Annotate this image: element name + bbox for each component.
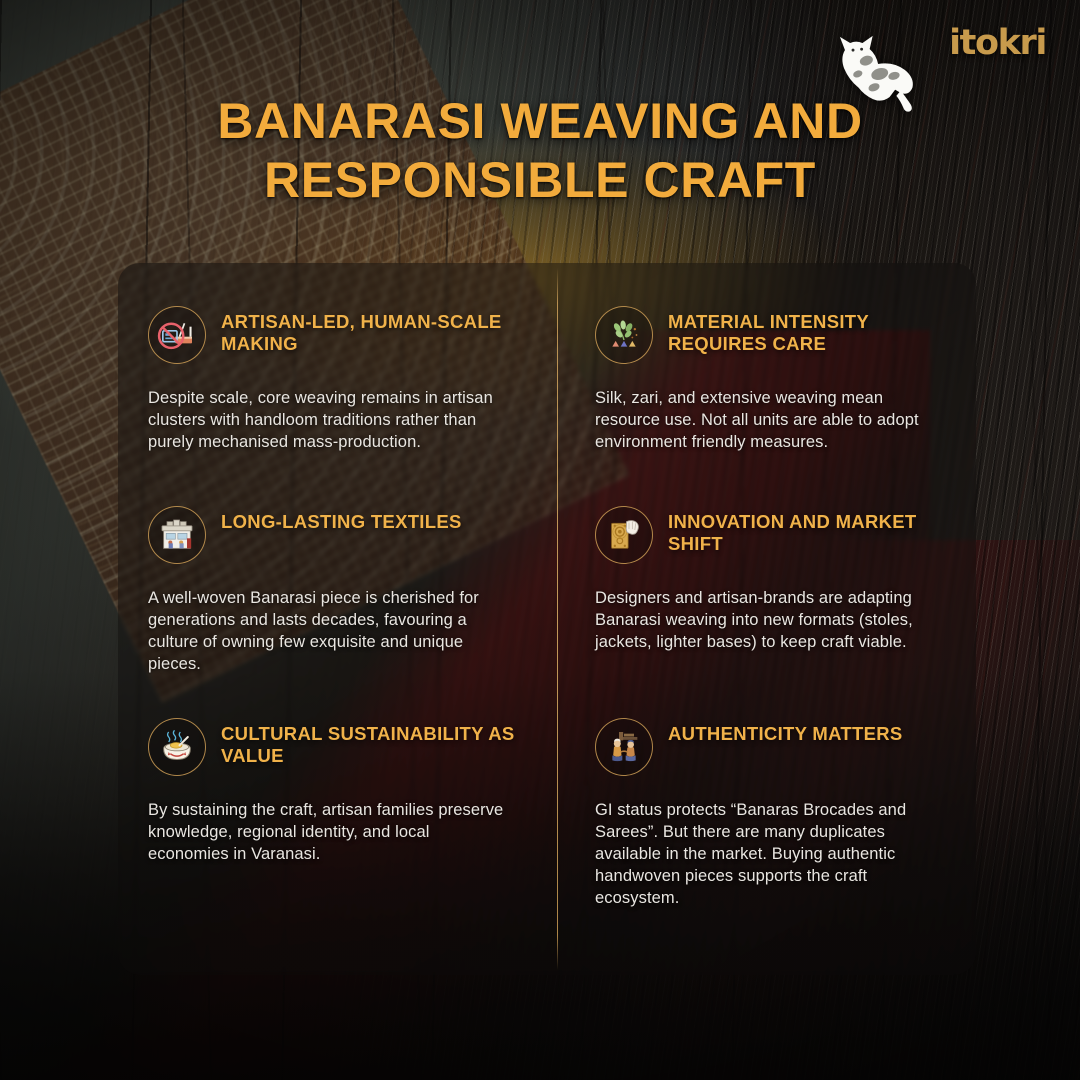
item-body: By sustaining the craft, artisan familie… — [148, 800, 533, 866]
item-authenticity-matters: AUTHENTICITY MATTERS GI status protects … — [557, 675, 976, 975]
items-grid: ARTISAN-LED, HUMAN-SCALE MAKING Despite … — [118, 263, 976, 975]
item-header: MATERIAL INTENSITY REQUIRES CARE — [595, 305, 956, 364]
content-panel: ARTISAN-LED, HUMAN-SCALE MAKING Despite … — [118, 263, 976, 975]
item-header: INNOVATION AND MARKET SHIFT — [595, 505, 956, 564]
item-header: ARTISAN-LED, HUMAN-SCALE MAKING — [148, 305, 533, 364]
item-header: CULTURAL SUSTAINABILITY AS VALUE — [148, 717, 533, 776]
item-body: A well-woven Banarasi piece is cherished… — [148, 588, 533, 676]
item-title: INNOVATION AND MARKET SHIFT — [668, 505, 956, 554]
item-cultural-sustainability: CULTURAL SUSTAINABILITY AS VALUE By sust… — [118, 675, 557, 975]
item-title: LONG-LASTING TEXTILES — [221, 505, 462, 533]
item-header: LONG-LASTING TEXTILES — [148, 505, 533, 564]
cat-illustration-icon — [826, 32, 922, 114]
infographic-canvas: BANARASI WEAVING ANDRESPONSIBLE CRAFT it… — [0, 0, 1080, 1080]
no-machine-icon — [148, 306, 206, 364]
item-long-lasting-textiles: LONG-LASTING TEXTILES A well-woven Banar… — [118, 463, 557, 675]
item-title: CULTURAL SUSTAINABILITY AS VALUE — [221, 717, 533, 766]
page-title-line-1: BANARASI WEAVING AND — [217, 93, 862, 149]
brand-logo[interactable]: itokri — [949, 26, 1046, 61]
two-artisans-icon — [595, 718, 653, 776]
brand-logo-text: itokri — [949, 26, 1046, 61]
item-body: Silk, zari, and extensive weaving mean r… — [595, 388, 956, 454]
item-artisan-led: ARTISAN-LED, HUMAN-SCALE MAKING Despite … — [118, 263, 557, 463]
hand-holding-fabric-icon — [595, 506, 653, 564]
item-title: ARTISAN-LED, HUMAN-SCALE MAKING — [221, 305, 533, 354]
item-innovation-market-shift: INNOVATION AND MARKET SHIFT Designers an… — [557, 463, 976, 675]
steaming-pot-icon — [148, 718, 206, 776]
artisan-shop-icon — [148, 506, 206, 564]
item-title: AUTHENTICITY MATTERS — [668, 717, 903, 745]
item-title: MATERIAL INTENSITY REQUIRES CARE — [668, 305, 956, 354]
item-header: AUTHENTICITY MATTERS — [595, 717, 956, 776]
item-body: Designers and artisan-brands are adaptin… — [595, 588, 956, 654]
item-material-intensity: MATERIAL INTENSITY REQUIRES CARE Silk, z… — [557, 263, 976, 463]
item-body: Despite scale, core weaving remains in a… — [148, 388, 533, 454]
page-title-line-2: RESPONSIBLE CRAFT — [264, 152, 816, 208]
leaves-resources-icon — [595, 306, 653, 364]
item-body: GI status protects “Banaras Brocades and… — [595, 800, 956, 910]
